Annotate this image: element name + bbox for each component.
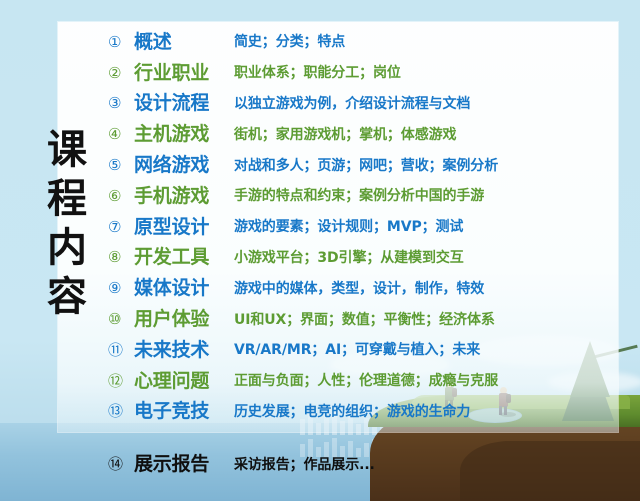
item-number: ⑬ — [108, 404, 134, 419]
item-topic: 原型设计 — [134, 218, 234, 237]
list-item[interactable]: ① 概述 简史；分类；特点 — [108, 27, 628, 58]
list-item[interactable]: ⑧ 开发工具 小游戏平台；3D引擎；从建模到交互 — [108, 243, 628, 274]
slide-canvas: 课 程 内 容 ① 概述 简史；分类；特点 ② 行业职业 职业体系；职能分工；岗… — [0, 0, 640, 501]
cliff-dirt-shadow — [460, 441, 640, 501]
list-item[interactable]: ④ 主机游戏 街机；家用游戏机；掌机；体感游戏 — [108, 119, 628, 150]
item-number: ④ — [108, 127, 134, 142]
item-topic: 未来技术 — [134, 341, 234, 360]
list-item[interactable]: ⑩ 用户体验 UI和UX；界面；数值；平衡性；经济体系 — [108, 304, 628, 335]
item-description: 小游戏平台；3D引擎；从建模到交互 — [234, 251, 464, 265]
item-topic: 主机游戏 — [134, 125, 234, 144]
item-topic: 设计流程 — [134, 94, 234, 113]
list-item[interactable]: ⑬ 电子竞技 历史发展；电竞的组织；游戏的生命力 — [108, 397, 628, 428]
item-number: ⑩ — [108, 312, 134, 327]
list-item[interactable]: ⑪ 未来技术 VR/AR/MR；AI；可穿戴与植入；未来 — [108, 335, 628, 366]
course-outline-list: ① 概述 简史；分类；特点 ② 行业职业 职业体系；职能分工；岗位 ③ 设计流程… — [108, 27, 628, 427]
item-description: 简史；分类；特点 — [234, 35, 345, 49]
title-char: 程 — [38, 174, 96, 223]
item-description: UI和UX；界面；数值；平衡性；经济体系 — [234, 313, 495, 327]
item-description: 游戏的要素；设计规则；MVP；测试 — [234, 220, 463, 234]
item-number: ⑫ — [108, 374, 134, 389]
list-item[interactable]: ⑤ 网络游戏 对战和多人；页游；网吧；营收；案例分析 — [108, 150, 628, 181]
list-item[interactable]: ⑦ 原型设计 游戏的要素；设计规则；MVP；测试 — [108, 212, 628, 243]
item-topic: 用户体验 — [134, 310, 234, 329]
item-description: 手游的特点和约束；案例分析中国的手游 — [234, 189, 484, 203]
item-description: VR/AR/MR；AI；可穿戴与植入；未来 — [234, 343, 480, 357]
list-item[interactable]: ⑨ 媒体设计 游戏中的媒体，类型，设计，制作，特效 — [108, 273, 628, 304]
item-topic: 心理问题 — [134, 372, 234, 391]
item-number: ③ — [108, 96, 134, 111]
title-char: 容 — [38, 272, 96, 321]
list-item[interactable]: ⑥ 手机游戏 手游的特点和约束；案例分析中国的手游 — [108, 181, 628, 212]
item-number: ⑥ — [108, 189, 134, 204]
item-topic: 电子竞技 — [134, 402, 234, 421]
item-number: ⑭ — [108, 457, 134, 472]
list-item[interactable]: ⑫ 心理问题 正面与负面；人性；伦理道德；成瘾与克服 — [108, 366, 628, 397]
title-char: 内 — [38, 223, 96, 272]
item-number: ① — [108, 35, 134, 50]
item-topic: 开发工具 — [134, 248, 234, 267]
item-number: ⑤ — [108, 158, 134, 173]
item-description: 街机；家用游戏机；掌机；体感游戏 — [234, 128, 456, 142]
list-item-final[interactable]: ⑭ 展示报告 采访报告；作品展示... — [108, 455, 375, 474]
item-number: ⑨ — [108, 281, 134, 296]
list-item[interactable]: ③ 设计流程 以独立游戏为例，介绍设计流程与文档 — [108, 89, 628, 120]
item-description: 对战和多人；页游；网吧；营收；案例分析 — [234, 159, 498, 173]
item-description: 游戏中的媒体，类型，设计，制作，特效 — [234, 282, 484, 296]
item-number: ⑪ — [108, 343, 134, 358]
item-topic: 媒体设计 — [134, 279, 234, 298]
item-number: ⑦ — [108, 220, 134, 235]
item-description: 历史发展；电竞的组织；游戏的生命力 — [234, 405, 470, 419]
title-char: 课 — [38, 125, 96, 174]
item-number: ② — [108, 66, 134, 81]
item-topic: 概述 — [134, 33, 234, 52]
item-description: 以独立游戏为例，介绍设计流程与文档 — [234, 97, 470, 111]
item-topic: 网络游戏 — [134, 156, 234, 175]
item-number: ⑧ — [108, 250, 134, 265]
item-topic: 行业职业 — [134, 64, 234, 83]
page-title: 课 程 内 容 — [38, 125, 96, 321]
item-topic: 手机游戏 — [134, 187, 234, 206]
item-description: 采访报告；作品展示... — [234, 458, 375, 472]
item-description: 正面与负面；人性；伦理道德；成瘾与克服 — [234, 374, 498, 388]
list-item[interactable]: ② 行业职业 职业体系；职能分工；岗位 — [108, 58, 628, 89]
item-description: 职业体系；职能分工；岗位 — [234, 66, 401, 80]
item-topic: 展示报告 — [134, 455, 234, 474]
